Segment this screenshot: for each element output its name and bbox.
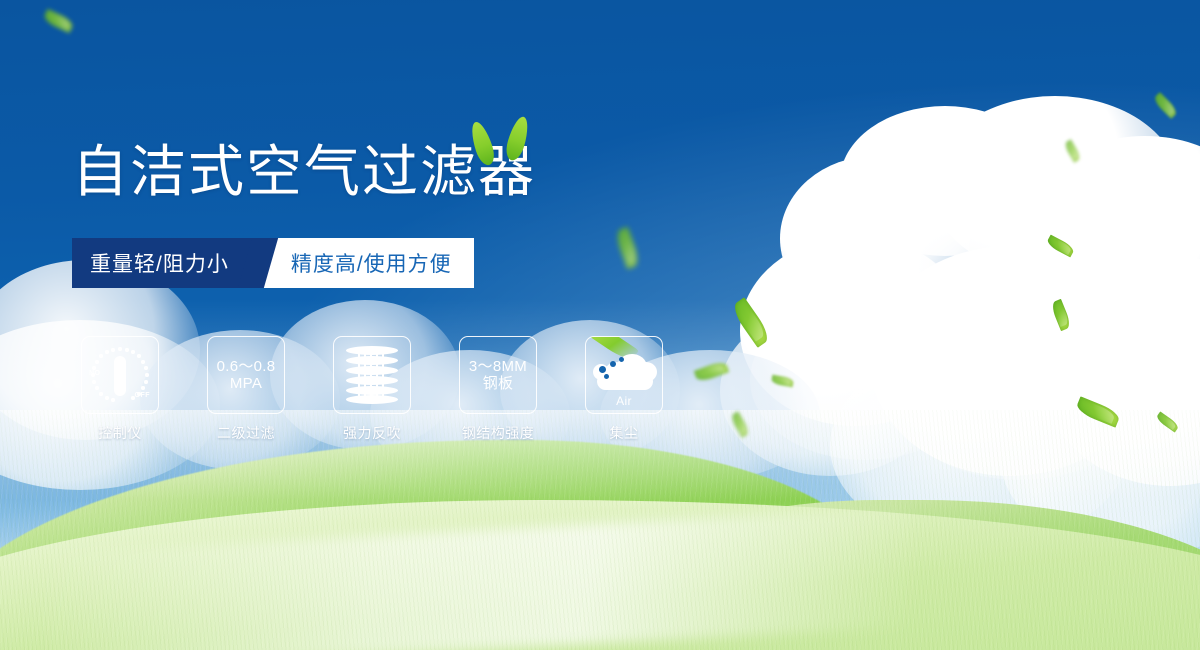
- air-label: Air: [591, 394, 657, 408]
- feature-label: 钢结构强度: [462, 423, 535, 443]
- sprout-leaves-icon: [471, 112, 535, 168]
- feature-icon-box: 3～8MM 钢板: [459, 336, 537, 414]
- gauge-needle-icon: [114, 356, 126, 396]
- feature-icon-box: 0.6～0.8 MPA: [207, 336, 285, 414]
- pressure-value: 0.6～0.8: [217, 358, 276, 375]
- feature-label: 二级过滤: [217, 423, 275, 443]
- ribbon-right-text: 精度高/使用方便: [291, 248, 452, 278]
- feature-icon-box: [333, 336, 411, 414]
- grass-field: [0, 410, 1200, 650]
- pressure-unit: MPA: [217, 375, 276, 392]
- feature-list: NO OFF 控制仪 0.6～0.8 MPA 二级过滤: [81, 336, 663, 443]
- gauge-dial-icon: NO OFF: [89, 345, 151, 405]
- filter-stack-icon: [346, 346, 398, 404]
- feature-icon-box: Air: [585, 336, 663, 414]
- feature-item-filtration[interactable]: 0.6～0.8 MPA 二级过滤: [207, 336, 285, 443]
- steel-thickness: 3～8MM: [469, 358, 527, 375]
- feature-icon-box: NO OFF: [81, 336, 159, 414]
- product-banner: 自洁式空气过滤器 重量轻/阻力小 精度高/使用方便: [0, 0, 1200, 650]
- feature-label: 强力反吹: [343, 423, 401, 443]
- feature-item-steel[interactable]: 3～8MM 钢板 钢结构强度: [459, 336, 537, 443]
- gauge-on-label: NO: [89, 370, 101, 377]
- steel-plate-text-icon: 3～8MM 钢板: [469, 358, 527, 393]
- sprout-leaf-right-icon: [503, 115, 532, 163]
- sprout-leaf-left-icon: [467, 119, 497, 167]
- air-cloud-icon: Air: [591, 344, 657, 406]
- feature-label: 控制仪: [98, 423, 142, 443]
- ribbon-segment-left: 重量轻/阻力小: [72, 238, 259, 288]
- pressure-text-icon: 0.6～0.8 MPA: [217, 358, 276, 393]
- feature-item-blowback[interactable]: 强力反吹: [333, 336, 411, 443]
- ribbon-left-text: 重量轻/阻力小: [90, 248, 229, 278]
- subtitle-ribbon: 重量轻/阻力小 精度高/使用方便: [72, 238, 474, 288]
- feature-item-controller[interactable]: NO OFF 控制仪: [81, 336, 159, 443]
- ribbon-segment-right: 精度高/使用方便: [263, 238, 474, 288]
- feature-item-dust[interactable]: Air 集尘: [585, 336, 663, 443]
- feature-label: 集尘: [610, 423, 639, 443]
- gauge-off-label: OFF: [135, 392, 151, 399]
- page-title: 自洁式空气过滤器: [72, 144, 536, 200]
- steel-material: 钢板: [469, 375, 527, 392]
